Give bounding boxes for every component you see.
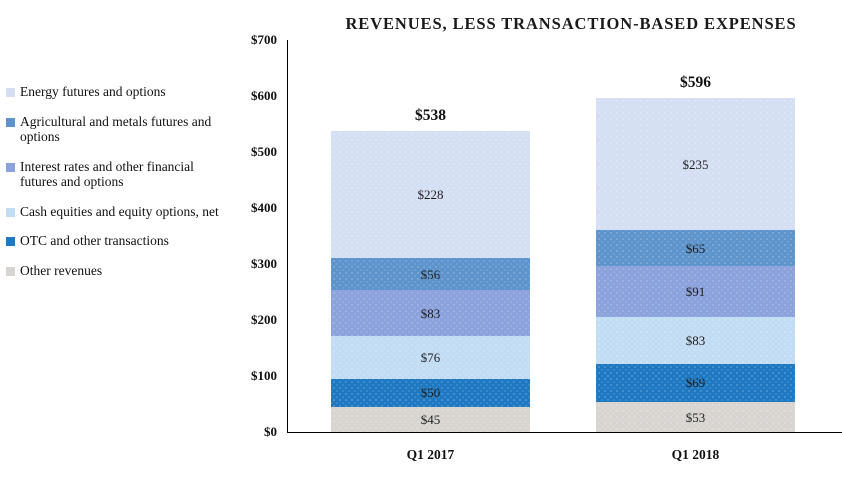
- y-axis-tick-labels: $700$600$500$400$300$200$100$0: [228, 0, 287, 479]
- bar-total-label: $538: [331, 107, 530, 125]
- y-axis-tick-label: $400: [228, 200, 287, 216]
- bar-segment-value-label: $235: [683, 158, 709, 171]
- x-axis-category-label: Q1 2018: [596, 447, 795, 463]
- x-axis-category-label: Q1 2017: [331, 447, 530, 463]
- bar-segment-value-label: $91: [686, 285, 706, 298]
- bar-segment[interactable]: $50: [331, 379, 530, 407]
- bar-segment[interactable]: $56: [331, 258, 530, 289]
- bar-segment[interactable]: $69: [596, 364, 795, 403]
- bar-segment-value-label: $65: [686, 242, 706, 255]
- y-axis-tick-label: $300: [228, 256, 287, 272]
- bar-segment-value-label: $83: [686, 334, 706, 347]
- bar-segment[interactable]: $91: [596, 266, 795, 317]
- bar-segment[interactable]: $83: [331, 290, 530, 336]
- bar-segment[interactable]: $83: [596, 317, 795, 363]
- bar-segment[interactable]: $45: [331, 407, 530, 432]
- y-axis-tick-label: $200: [228, 312, 287, 328]
- bar-segment-value-label: $45: [421, 413, 441, 426]
- stacked-bar[interactable]: $228$56$83$76$50$45: [331, 131, 530, 432]
- bar-segment-value-label: $56: [421, 268, 441, 281]
- bar-total-label: $596: [596, 74, 795, 92]
- bar-segment[interactable]: $235: [596, 98, 795, 230]
- bar-segment[interactable]: $76: [331, 336, 530, 379]
- bar-segment[interactable]: $228: [331, 131, 530, 259]
- y-axis-tick-label: $100: [228, 368, 287, 384]
- y-axis-tick-label: $600: [228, 88, 287, 104]
- y-axis-line: [287, 40, 288, 433]
- stacked-bar[interactable]: $235$65$91$83$69$53: [596, 98, 795, 432]
- y-axis-tick-label: $700: [228, 32, 287, 48]
- x-axis-category: Q1 2017: [331, 433, 530, 473]
- y-axis-tick-label: $0: [228, 424, 287, 440]
- bar-segment[interactable]: $53: [596, 402, 795, 432]
- x-axis-category: Q1 2018: [596, 433, 795, 473]
- bar-segment-value-label: $76: [421, 351, 441, 364]
- bar-segment-value-label: $228: [418, 188, 444, 201]
- bar-segment-value-label: $53: [686, 411, 706, 424]
- plot-area: $700$600$500$400$300$200$100$0 $228$56$8…: [0, 0, 842, 479]
- bar-segment-value-label: $69: [686, 376, 706, 389]
- y-axis-tick-label: $500: [228, 144, 287, 160]
- bar-segment-value-label: $50: [421, 386, 441, 399]
- bar-segment-value-label: $83: [421, 307, 441, 320]
- bar-segment[interactable]: $65: [596, 230, 795, 266]
